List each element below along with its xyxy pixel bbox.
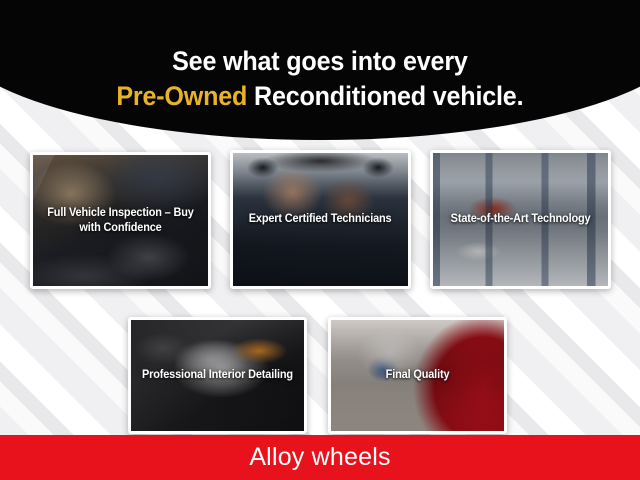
headline-line-1: See what goes into every (172, 44, 468, 79)
footer-label: Alloy wheels (249, 445, 390, 470)
card-label: Professional Interior Detailing (135, 368, 299, 383)
feature-card-final-quality[interactable]: Final Quality (328, 317, 507, 434)
headline-block: See what goes into every Pre-Owned Recon… (0, 0, 640, 140)
feature-card-expert-certified-technicians[interactable]: Expert Certified Technicians (230, 150, 411, 289)
headline-accent-text: Pre-Owned (116, 81, 247, 111)
card-label: Full Vehicle Inspection – Buy with Confi… (37, 206, 203, 235)
card-label: Expert Certified Technicians (242, 212, 398, 227)
feature-card-full-vehicle-inspection[interactable]: Full Vehicle Inspection – Buy with Confi… (30, 152, 211, 289)
card-label: State-of-the-Art Technology (444, 212, 597, 227)
headline-line-2: Pre-Owned Reconditioned vehicle. (116, 79, 523, 114)
footer-banner: Alloy wheels (0, 435, 640, 480)
headline-rest-text: Reconditioned vehicle. (247, 81, 523, 111)
promo-graphic: See what goes into every Pre-Owned Recon… (0, 0, 640, 480)
card-label: Final Quality (379, 368, 456, 383)
feature-card-professional-interior-detailing[interactable]: Professional Interior Detailing (128, 317, 307, 434)
feature-card-state-of-the-art-technology[interactable]: State-of-the-Art Technology (430, 150, 611, 289)
